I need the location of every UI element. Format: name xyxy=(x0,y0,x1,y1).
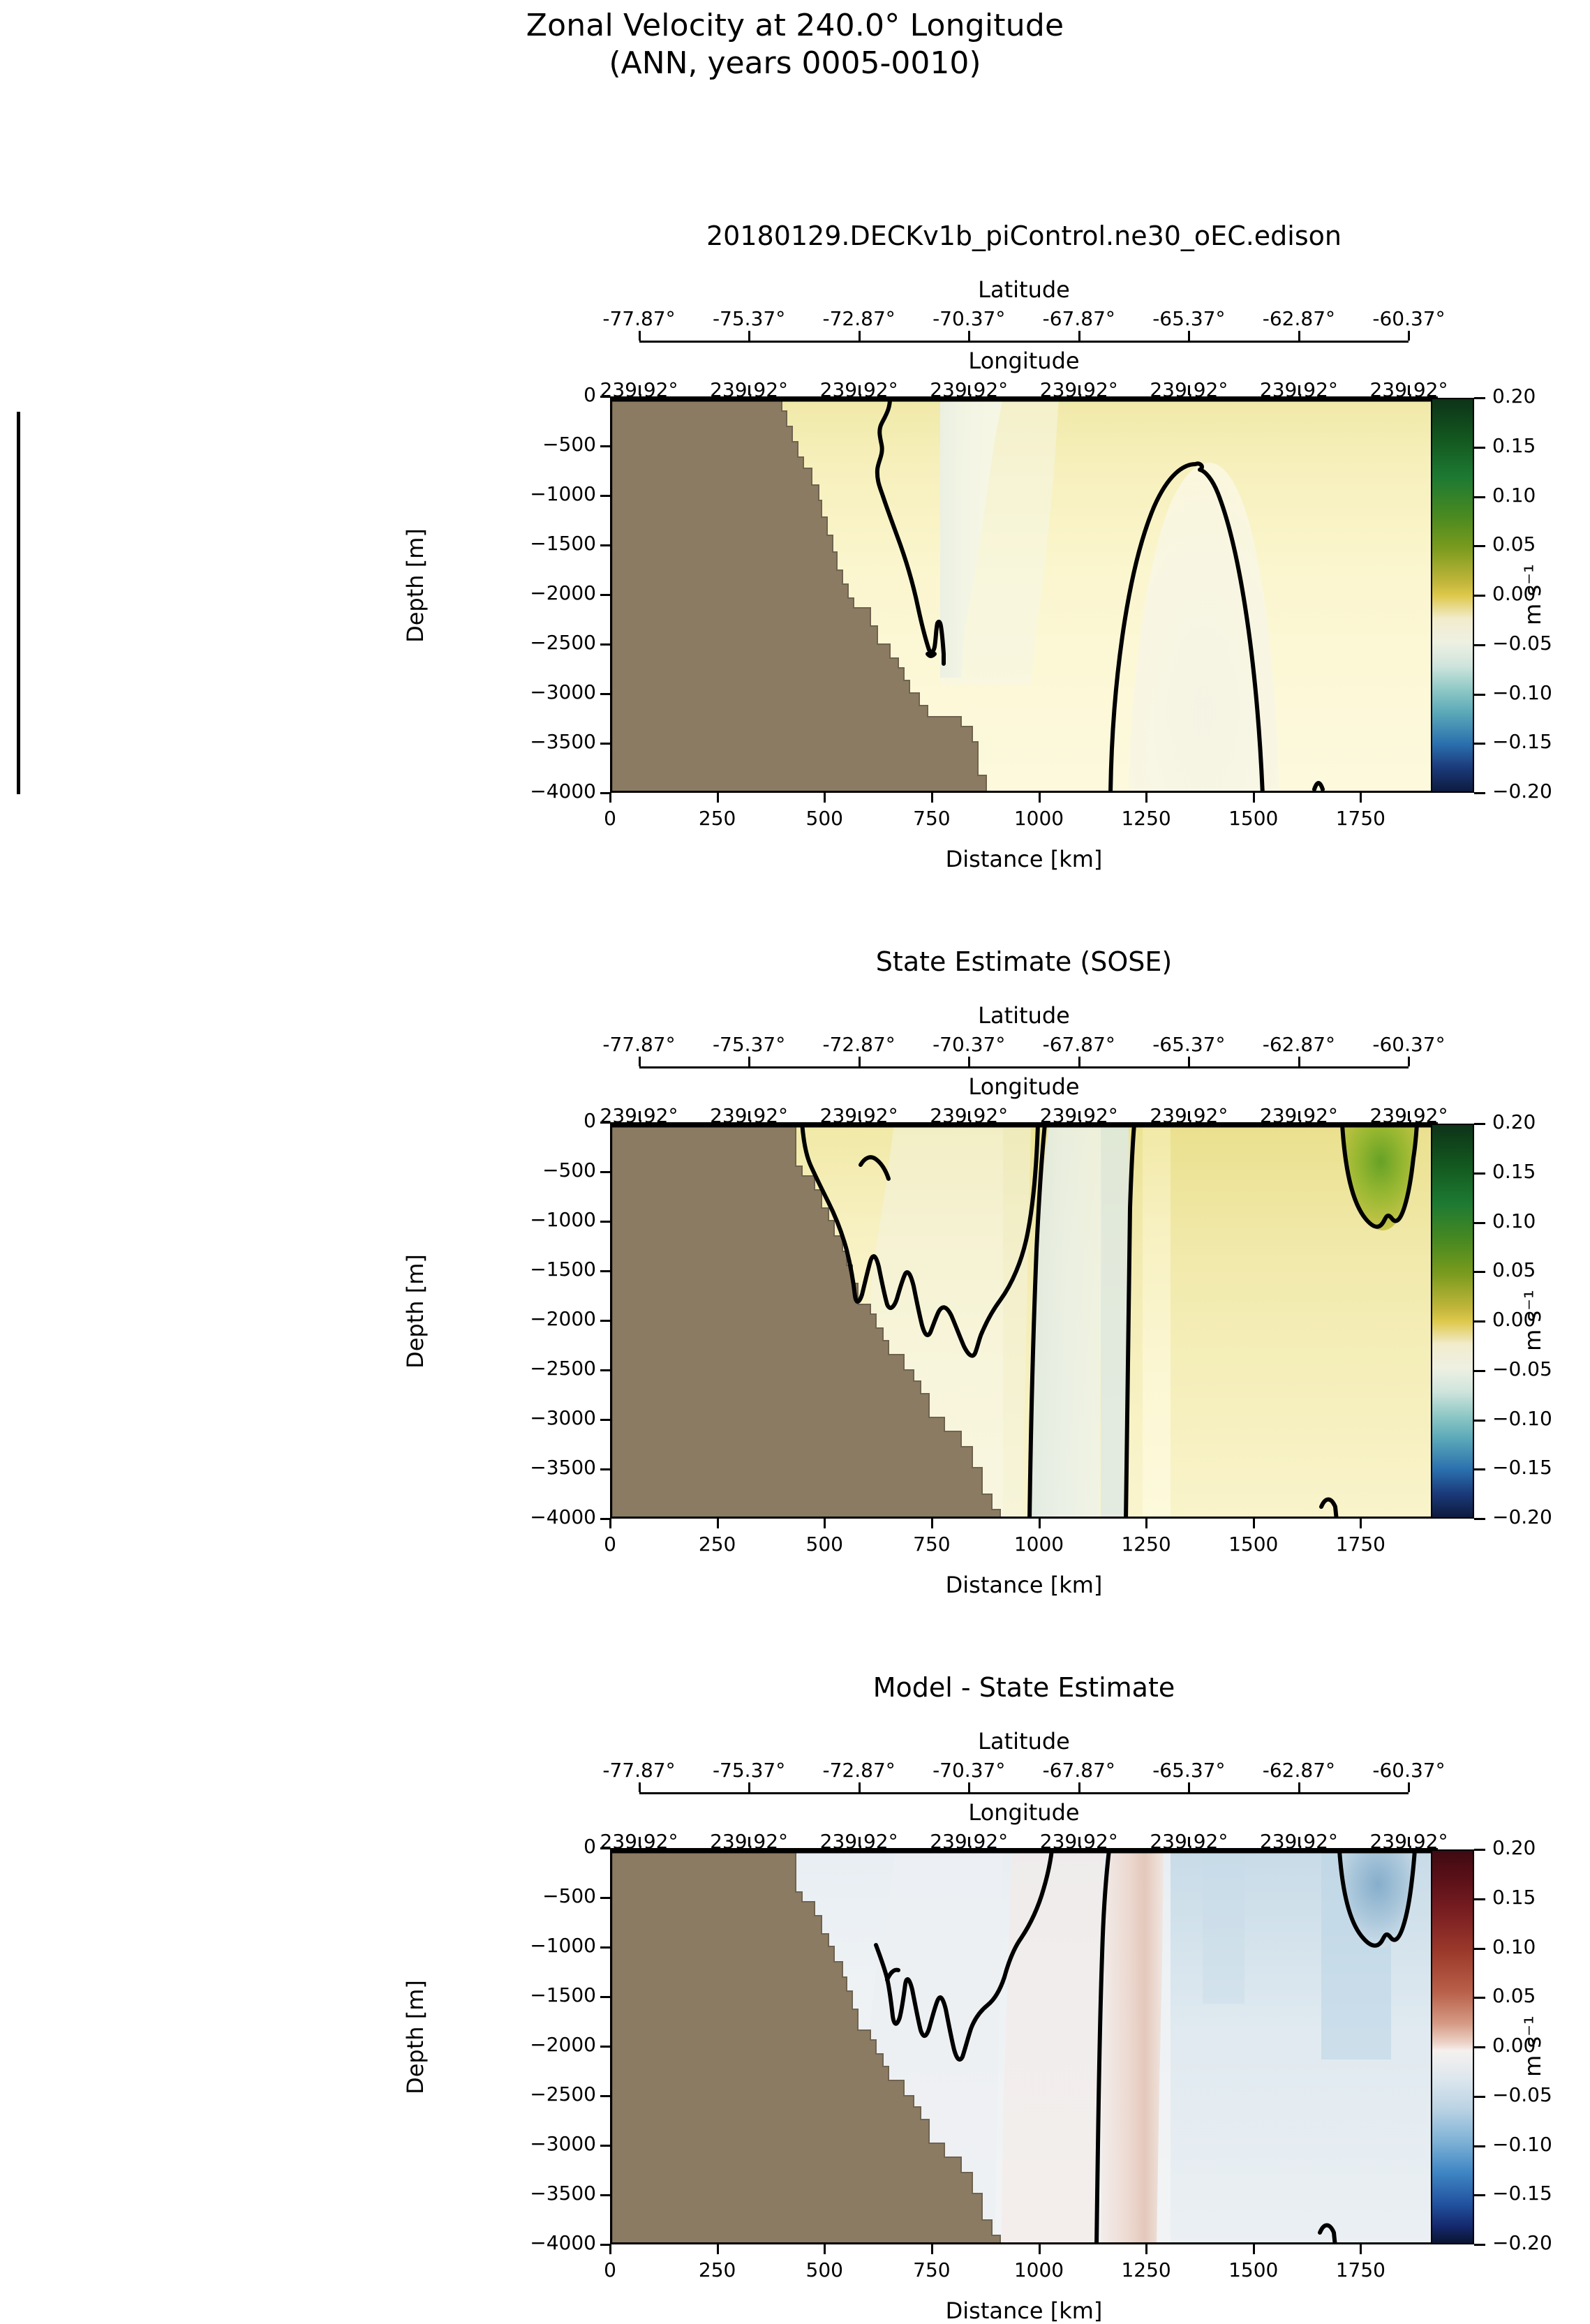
y-tick-label: −2500 xyxy=(401,631,596,654)
y-tick-mark xyxy=(600,2095,610,2097)
colorbar-tick-label: 0.15 xyxy=(1492,1886,1590,1909)
y-tick-label: −2000 xyxy=(401,581,596,604)
colorbar-tick-mark xyxy=(1474,743,1485,745)
y-tick-mark xyxy=(600,396,610,398)
y-tick-mark xyxy=(600,2046,610,2048)
colorbar-tick-label: −0.10 xyxy=(1492,1407,1590,1430)
secondary-tick-mark xyxy=(968,385,970,395)
x-tick-mark xyxy=(1039,1519,1041,1528)
colorbar-tick-mark xyxy=(1474,2244,1485,2246)
secondary-axis-spine xyxy=(639,341,1409,343)
y-tick-label: −3500 xyxy=(401,730,596,753)
secondary-tick-mark xyxy=(639,1782,641,1792)
secondary-tick-mark xyxy=(1078,385,1080,395)
secondary-tick-mark xyxy=(859,1782,861,1792)
y-tick-label: −1500 xyxy=(401,1258,596,1281)
secondary-tick-mark xyxy=(639,1837,641,1847)
figure-canvas: Zonal Velocity at 240.0° Longitude (ANN,… xyxy=(0,0,1590,2282)
colorbar-tick-mark xyxy=(1474,1518,1485,1520)
colorbar-tick-mark xyxy=(1474,1948,1485,1950)
panel-1-colorbar-label: m s⁻¹ xyxy=(1520,525,1546,664)
secondary-tick-mark xyxy=(1188,1837,1190,1847)
y-tick-label: −1500 xyxy=(401,532,596,555)
y-tick-label: −3500 xyxy=(401,2182,596,2205)
colorbar-tick-mark xyxy=(1474,1420,1485,1422)
colorbar-tick-label: 0.20 xyxy=(1492,1836,1590,1859)
x-tick-mark xyxy=(717,2244,719,2254)
secondary-tick-mark xyxy=(748,331,750,341)
secondary-tick-mark xyxy=(968,1782,970,1792)
panel-2-latitude-axis-label: Latitude xyxy=(610,1002,1438,1029)
y-tick-mark xyxy=(600,2244,610,2246)
secondary-tick-mark xyxy=(859,1111,861,1121)
y-tick-label: −4000 xyxy=(401,2231,596,2254)
colorbar-tick-mark xyxy=(1474,1172,1485,1175)
colorbar-tick-label: −0.20 xyxy=(1492,1505,1590,1528)
panel-1-longitude-axis-label: Longitude xyxy=(610,348,1438,374)
y-tick-label: −4000 xyxy=(401,780,596,803)
suptitle-line-2: (ANN, years 0005-0010) xyxy=(0,45,1590,82)
panel-3-latitude-axis-label: Latitude xyxy=(610,1728,1438,1755)
secondary-tick-mark xyxy=(639,385,641,395)
y-tick-label: −500 xyxy=(401,1159,596,1182)
secondary-tick-mark xyxy=(1078,1057,1080,1066)
colorbar-tick-mark xyxy=(1474,694,1485,696)
secondary-tick-mark xyxy=(1408,331,1410,341)
panel-1-latitude-axis-label: Latitude xyxy=(610,276,1438,303)
colorbar-tick-mark xyxy=(1474,2046,1485,2048)
colorbar-tick-label: 0.10 xyxy=(1492,1935,1590,1958)
panel-3-longitude-axis-label: Longitude xyxy=(610,1799,1438,1826)
colorbar-tick-label: −0.10 xyxy=(1492,681,1590,704)
y-tick-label: −500 xyxy=(401,433,596,456)
secondary-tick-mark xyxy=(1408,1111,1410,1121)
y-tick-label: −1500 xyxy=(401,1983,596,2006)
y-tick-mark xyxy=(600,1122,610,1124)
x-tick-mark xyxy=(1039,793,1041,803)
secondary-tick-mark xyxy=(1078,1111,1080,1121)
colorbar-tick-mark xyxy=(1474,1123,1485,1125)
colorbar-tick-mark xyxy=(1474,1468,1485,1470)
y-tick-label: −500 xyxy=(401,1884,596,1907)
secondary-tick-mark xyxy=(639,1057,641,1066)
colorbar-tick-mark xyxy=(1474,2096,1485,2098)
secondary-tick-mark xyxy=(1078,331,1080,341)
y-tick-mark xyxy=(600,445,610,447)
y-tick-mark xyxy=(600,1996,610,1998)
y-tick-mark xyxy=(600,1847,610,1849)
colorbar-tick-label: −0.10 xyxy=(1492,2133,1590,2156)
secondary-tick-mark xyxy=(1408,1837,1410,1847)
secondary-tick-mark xyxy=(1298,1837,1300,1847)
secondary-tick-mark xyxy=(859,1837,861,1847)
secondary-axis-spine xyxy=(639,1066,1409,1068)
x-tick-mark xyxy=(1360,1519,1362,1528)
panel-1-plot-area[interactable] xyxy=(610,396,1438,793)
panel-3-plot-area[interactable] xyxy=(610,1848,1438,2244)
secondary-tick-mark xyxy=(1298,385,1300,395)
colorbar-tick-mark xyxy=(1474,496,1485,498)
x-tick-mark xyxy=(1253,1519,1255,1528)
panel-3-title: Model - State Estimate xyxy=(610,1672,1438,1703)
secondary-tick-mark xyxy=(1078,1782,1080,1792)
y-tick-mark xyxy=(600,1946,610,1949)
colorbar-tick-label: −0.15 xyxy=(1492,1456,1590,1479)
suptitle-line-1: Zonal Velocity at 240.0° Longitude xyxy=(0,7,1590,45)
x-tick-label: 1750 xyxy=(1277,2258,1444,2281)
y-tick-mark xyxy=(600,643,610,646)
secondary-tick-mark xyxy=(1408,385,1410,395)
y-tick-mark xyxy=(600,1897,610,1899)
y-tick-mark xyxy=(600,544,610,546)
y-tick-label: −3500 xyxy=(401,1456,596,1479)
secondary-tick-mark xyxy=(968,1057,970,1066)
x-tick-mark xyxy=(717,1519,719,1528)
x-tick-mark xyxy=(1253,793,1255,803)
x-tick-mark xyxy=(1253,2244,1255,2254)
secondary-tick-mark xyxy=(968,1837,970,1847)
panel-2-section-plot xyxy=(612,1124,1438,1519)
colorbar-tick-mark xyxy=(1474,1222,1485,1224)
y-tick-label: −3000 xyxy=(401,680,596,703)
secondary-tick-mark xyxy=(1188,385,1190,395)
y-tick-mark xyxy=(600,1419,610,1421)
colorbar-tick-label: −0.15 xyxy=(1492,730,1590,753)
y-tick-mark xyxy=(600,1270,610,1272)
x-tick-mark xyxy=(824,2244,826,2254)
y-tick-label: −1000 xyxy=(401,1934,596,1957)
y-tick-mark xyxy=(600,495,610,497)
colorbar-tick-mark xyxy=(1474,2194,1485,2196)
panel-2-longitude-axis-label: Longitude xyxy=(610,1073,1438,1100)
secondary-tick-mark xyxy=(1188,1057,1190,1066)
panel-3-colorbar xyxy=(1431,1849,1474,2244)
y-tick-label: 0 xyxy=(401,1109,596,1132)
colorbar-tick-mark xyxy=(1474,1320,1485,1323)
x-tick-mark xyxy=(824,793,826,803)
colorbar-tick-label: 0.20 xyxy=(1492,1110,1590,1133)
y-tick-mark xyxy=(600,792,610,794)
colorbar-tick-mark xyxy=(1474,1271,1485,1273)
x-tick-mark xyxy=(931,793,933,803)
x-tick-mark xyxy=(1039,2244,1041,2254)
y-tick-mark xyxy=(600,1518,610,1520)
secondary-tick-mark xyxy=(1188,331,1190,341)
secondary-tick-mark xyxy=(748,1057,750,1066)
x-tick-mark xyxy=(1360,793,1362,803)
figure-suptitle: Zonal Velocity at 240.0° Longitude (ANN,… xyxy=(0,7,1590,82)
secondary-tick-label: -60.37° xyxy=(1325,1033,1492,1056)
colorbar-tick-mark xyxy=(1474,447,1485,449)
secondary-axis-spine xyxy=(639,1792,1409,1794)
panel-2-colorbar-label: m s⁻¹ xyxy=(1520,1251,1546,1390)
panel-1-section-plot xyxy=(612,398,1438,793)
colorbar-tick-label: 0.10 xyxy=(1492,1209,1590,1232)
left-edge-rule xyxy=(17,412,20,794)
colorbar-tick-mark xyxy=(1474,1849,1485,1851)
panel-2-plot-area[interactable] xyxy=(610,1122,1438,1519)
colorbar-tick-label: 0.15 xyxy=(1492,1160,1590,1183)
secondary-tick-mark xyxy=(1408,1057,1410,1066)
panel-1-xlabel: Distance [km] xyxy=(610,846,1438,872)
y-tick-mark xyxy=(600,1320,610,1322)
y-tick-label: −3000 xyxy=(401,1406,596,1429)
y-tick-label: 0 xyxy=(401,1835,596,1858)
y-tick-label: 0 xyxy=(401,383,596,406)
secondary-tick-mark xyxy=(1298,1111,1300,1121)
secondary-tick-mark xyxy=(1298,1057,1300,1066)
y-tick-label: −1000 xyxy=(401,482,596,505)
x-tick-mark xyxy=(609,793,611,803)
x-tick-label: 1750 xyxy=(1277,1533,1444,1556)
y-tick-mark xyxy=(600,1369,610,1371)
secondary-tick-mark xyxy=(639,1111,641,1121)
colorbar-tick-mark xyxy=(1474,545,1485,547)
secondary-tick-mark xyxy=(1408,1782,1410,1792)
y-tick-mark xyxy=(600,2194,610,2196)
secondary-tick-mark xyxy=(968,331,970,341)
secondary-tick-mark xyxy=(748,1782,750,1792)
y-tick-mark xyxy=(600,693,610,695)
y-tick-label: −2500 xyxy=(401,1357,596,1380)
panel-2-xlabel: Distance [km] xyxy=(610,1572,1438,1598)
colorbar-tick-mark xyxy=(1474,792,1485,794)
secondary-tick-mark xyxy=(859,385,861,395)
x-tick-mark xyxy=(609,2244,611,2254)
panel-1-title: 20180129.DECKv1b_piControl.ne30_oEC.edis… xyxy=(610,221,1438,251)
colorbar-tick-label: 0.10 xyxy=(1492,484,1590,507)
panel-3-section-plot xyxy=(612,1850,1438,2244)
colorbar-tick-mark xyxy=(1474,644,1485,646)
y-tick-mark xyxy=(600,594,610,596)
colorbar-tick-mark xyxy=(1474,1370,1485,1372)
panel-2-title: State Estimate (SOSE) xyxy=(610,946,1438,977)
secondary-tick-label: -60.37° xyxy=(1325,1759,1492,1782)
secondary-tick-mark xyxy=(1298,1782,1300,1792)
colorbar-tick-mark xyxy=(1474,1997,1485,1999)
secondary-tick-mark xyxy=(748,385,750,395)
colorbar-tick-label: −0.20 xyxy=(1492,2231,1590,2254)
x-tick-mark xyxy=(609,1519,611,1528)
panel-1-colorbar xyxy=(1431,398,1474,793)
colorbar-tick-label: 0.15 xyxy=(1492,434,1590,457)
secondary-tick-mark xyxy=(968,1111,970,1121)
x-tick-mark xyxy=(717,793,719,803)
panel-3-colorbar-label: m s⁻¹ xyxy=(1520,1976,1546,2116)
secondary-tick-mark xyxy=(859,331,861,341)
y-tick-label: −4000 xyxy=(401,1505,596,1528)
y-tick-label: −3000 xyxy=(401,2132,596,2155)
x-tick-label: 1750 xyxy=(1277,807,1444,830)
x-tick-mark xyxy=(824,1519,826,1528)
colorbar-tick-mark xyxy=(1474,397,1485,399)
colorbar-tick-label: −0.20 xyxy=(1492,780,1590,803)
y-tick-mark xyxy=(600,1221,610,1223)
secondary-tick-mark xyxy=(859,1057,861,1066)
y-tick-mark xyxy=(600,1468,610,1470)
y-tick-label: −2000 xyxy=(401,1307,596,1330)
y-tick-label: −2500 xyxy=(401,2083,596,2106)
y-tick-mark xyxy=(600,743,610,745)
secondary-tick-mark xyxy=(1188,1111,1190,1121)
secondary-tick-mark xyxy=(639,331,641,341)
colorbar-tick-mark xyxy=(1474,1898,1485,1900)
x-tick-mark xyxy=(1145,793,1147,803)
secondary-tick-mark xyxy=(748,1837,750,1847)
secondary-tick-mark xyxy=(1078,1837,1080,1847)
x-tick-mark xyxy=(931,2244,933,2254)
panel-3-xlabel: Distance [km] xyxy=(610,2297,1438,2324)
y-tick-mark xyxy=(600,1171,610,1173)
colorbar-tick-label: −0.15 xyxy=(1492,2182,1590,2205)
secondary-tick-mark xyxy=(1298,331,1300,341)
colorbar-tick-mark xyxy=(1474,595,1485,597)
y-tick-mark xyxy=(600,2145,610,2147)
x-tick-mark xyxy=(1360,2244,1362,2254)
colorbar-tick-label: 0.20 xyxy=(1492,385,1590,408)
secondary-tick-label: -60.37° xyxy=(1325,307,1492,330)
x-tick-mark xyxy=(1145,2244,1147,2254)
y-tick-label: −1000 xyxy=(401,1208,596,1231)
secondary-tick-mark xyxy=(1188,1782,1190,1792)
panel-2-colorbar xyxy=(1431,1124,1474,1519)
colorbar-tick-mark xyxy=(1474,2145,1485,2147)
x-tick-mark xyxy=(931,1519,933,1528)
y-tick-label: −2000 xyxy=(401,2033,596,2056)
secondary-tick-mark xyxy=(748,1111,750,1121)
x-tick-mark xyxy=(1145,1519,1147,1528)
